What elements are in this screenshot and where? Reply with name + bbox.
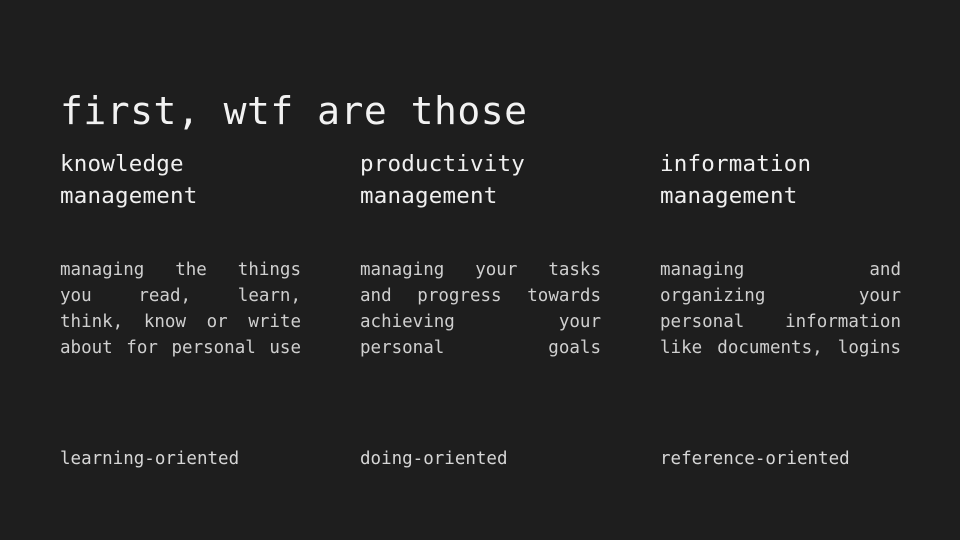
orientation-tag-reference: reference-oriented xyxy=(660,446,901,472)
column-description-productivity-management: managing your tasks and progress towards… xyxy=(360,257,601,387)
orientation-tag-doing: doing-oriented xyxy=(360,446,601,472)
orientation-tags-row: learning-oriented doing-oriented referen… xyxy=(60,446,902,472)
orientation-tag-learning: learning-oriented xyxy=(60,446,301,472)
column-knowledge-management: knowledge management managing the things… xyxy=(60,148,301,387)
slide-canvas: first, wtf are those knowledge managemen… xyxy=(0,0,960,540)
tag-cell-information-management: reference-oriented xyxy=(660,446,901,472)
column-information-management: information management managing and orga… xyxy=(660,148,901,387)
column-heading-information-management: information management xyxy=(660,148,901,212)
column-description-information-management: managing and organizing your personal in… xyxy=(660,257,901,387)
column-productivity-management: productivity management managing your ta… xyxy=(360,148,601,387)
column-description-knowledge-management: managing the things you read, learn, thi… xyxy=(60,257,301,387)
concept-columns: knowledge management managing the things… xyxy=(60,148,902,387)
column-heading-knowledge-management: knowledge management xyxy=(60,148,301,212)
tag-cell-knowledge-management: learning-oriented xyxy=(60,446,301,472)
tag-cell-productivity-management: doing-oriented xyxy=(360,446,601,472)
column-heading-productivity-management: productivity management xyxy=(360,148,601,212)
page-title: first, wtf are those xyxy=(60,85,900,137)
